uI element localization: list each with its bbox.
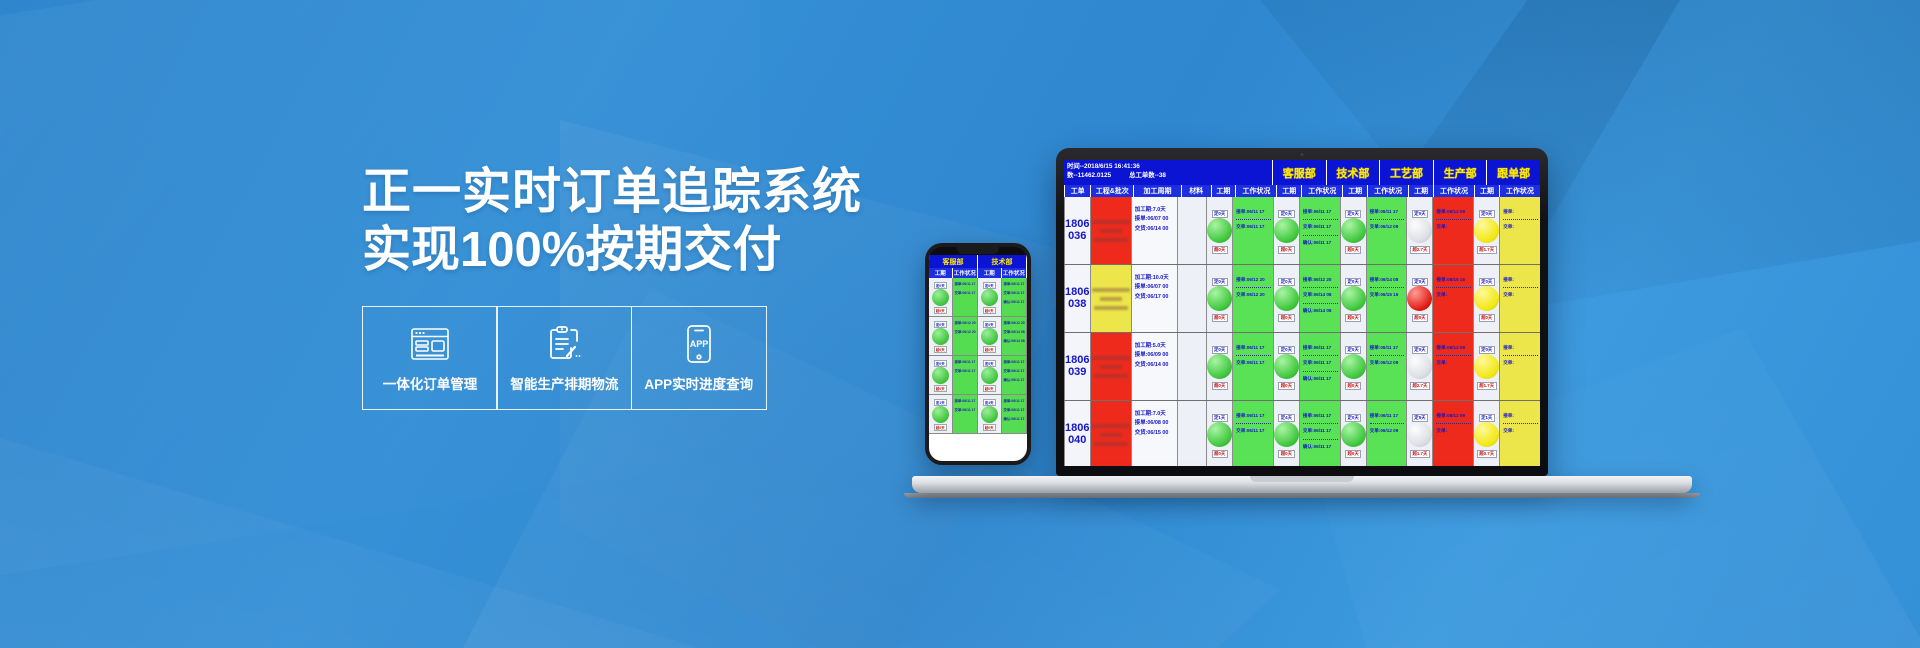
late-tag: 定0天 (1278, 346, 1294, 354)
late-tag: 定5天 (1412, 414, 1428, 422)
col-header-技术部-工期: 工期 (1276, 185, 1301, 197)
work-status-cell-跟单部: 接单:交单: (1499, 265, 1540, 332)
col-header-生产部-工作状况: 工作状况 (1433, 185, 1474, 197)
col-header-客服部-工期: 工期 (1211, 185, 1236, 197)
duration-cell-技术部: 定0天超0天 (1273, 197, 1299, 264)
work-status-cell-生产部: 接单:06/12 09交单: (1432, 401, 1473, 466)
phone-frame: 客服部 技术部 工期 工作状况 工期 工作状况 定0天超0天接单:06/11 1… (929, 247, 1027, 461)
phone-status-light (981, 328, 998, 345)
work-status-cell-生产部: 接单:06/15 16交单: (1432, 265, 1473, 332)
phone-work-status-cell: 接单:06/11 17交单:06/11 17确认:06/11 17 (1002, 356, 1027, 394)
work-status-cell-跟单部: 接单:交单: (1499, 333, 1540, 400)
dept-header-technical: 技术部 (1326, 160, 1380, 185)
phone-late-tag: 定0天 (983, 321, 996, 328)
late-tag: 定0天 (1345, 210, 1361, 218)
status-light-grey (1407, 354, 1432, 379)
status-light-grey (1407, 218, 1432, 243)
status-light-green (1341, 286, 1366, 311)
processing-cycle-cell: 加工期:7.0天接单:06/08 00交货:06/15 00 (1131, 401, 1178, 466)
duration-cell-生产部: 定0天超0天 (1406, 265, 1432, 332)
dept-header-process: 工艺部 (1379, 160, 1433, 185)
phone-overdue-tag: 超0天 (983, 424, 996, 431)
hero-banner: 正一实时订单追踪系统 实现100%按期交付 (0, 0, 1920, 648)
phone-duration-cell: 定0天超0天 (929, 356, 953, 394)
duration-cell-生产部: 定0天超2.7天 (1406, 197, 1432, 264)
total-orders-label: 总工单数--38 (1129, 171, 1166, 180)
status-light-green (1274, 218, 1299, 243)
project-batch-cell (1090, 197, 1131, 264)
duration-cell-客服部: 定0天超0天 (1206, 333, 1232, 400)
laptop-lid: 时间--2018/6/15 16:41:36 数--11462.0125 总工单… (1056, 148, 1548, 476)
status-light-green (1207, 422, 1232, 447)
work-status-cell-生产部: 接单:06/12 09交单: (1432, 333, 1473, 400)
status-light-green (1341, 218, 1366, 243)
order-number-cell: 1806036 (1064, 197, 1090, 264)
col-header-技术部-工作状况: 工作状况 (1301, 185, 1342, 197)
overdue-tag: 超0天 (1278, 382, 1294, 390)
processing-cycle-cell: 加工期:10.0天接单:06/07 00交货:06/17 00 (1131, 265, 1178, 332)
dashboard-row-list: 1806036加工期:7.0天接单:06/07 00交货:06/14 00定0天… (1064, 197, 1540, 466)
phone-duration-cell: 定1天超0天 (929, 395, 953, 433)
headline-line-1: 正一实时订单追踪系统 (362, 164, 882, 222)
feature-label: 智能生产排期物流 (510, 373, 618, 393)
phone-dept-1: 技术部 (978, 255, 1027, 268)
phone-status-light (932, 406, 949, 423)
duration-cell-技术部: 定4天超0天 (1273, 401, 1299, 466)
laptop-screen: 时间--2018/6/15 16:41:36 数--11462.0125 总工单… (1064, 160, 1540, 466)
project-batch-cell (1090, 401, 1131, 466)
late-tag: 定0天 (1412, 210, 1428, 218)
svg-text:APP: APP (690, 339, 709, 349)
col-header-1: 工程&批次 (1090, 185, 1133, 197)
work-status-cell-跟单部: 接单:交单: (1499, 401, 1540, 466)
mobile-app-icon: APP (684, 322, 714, 366)
duration-cell-客服部: 定1天超0天 (1206, 401, 1232, 466)
count-label: 数--11462.0125 (1067, 171, 1111, 180)
table-row[interactable]: 1806038加工期:10.0天接单:06/07 00交货:06/17 00定0… (1064, 265, 1540, 333)
phone-notch (957, 247, 999, 254)
phone-overdue-tag: 超0天 (983, 307, 996, 314)
overdue-tag: 超0天 (1212, 314, 1228, 322)
late-tag: 定0天 (1412, 278, 1428, 286)
status-light-green (1207, 218, 1232, 243)
webcam-icon (1301, 153, 1304, 156)
status-light-yellow (1474, 354, 1499, 379)
phone-duration-cell: 定0天超0天 (978, 356, 1002, 394)
overdue-tag: 超0天 (1212, 246, 1228, 254)
phone-col-3: 工作状况 (1002, 268, 1027, 278)
status-light-green (1274, 422, 1299, 447)
phone-status-light (981, 289, 998, 306)
work-status-cell-工艺部: 接单:06/11 17交单:06/12 09 (1366, 197, 1407, 264)
phone-status-light (932, 328, 949, 345)
late-tag: 定0天 (1479, 210, 1495, 218)
headline-line-2: 实现100%按期交付 (362, 222, 882, 280)
duration-cell-跟单部: 定0天超1.7天 (1473, 197, 1499, 264)
overdue-tag: 超0.7天 (1477, 450, 1497, 458)
overdue-tag: 超1.7天 (1477, 382, 1497, 390)
phone-row[interactable]: 定0天超0天接单:06/11 17交单:06/11 17定0天超0天接单:06/… (929, 278, 1027, 317)
overdue-tag: 超0天 (1278, 246, 1294, 254)
duration-cell-技术部: 定0天超0天 (1273, 265, 1299, 332)
col-header-跟单部-工期: 工期 (1474, 185, 1499, 197)
duration-cell-工艺部: 定0天超0天 (1340, 333, 1366, 400)
phone-mockup: 客服部 技术部 工期 工作状况 工期 工作状况 定0天超0天接单:06/11 1… (925, 243, 1031, 465)
clipboard-schedule-icon (547, 322, 581, 366)
work-status-cell-技术部: 接单:06/11 17交单:06/11 17确认:06/11 17 (1299, 333, 1340, 400)
material-cell (1177, 333, 1206, 400)
phone-row[interactable]: 定0天超0天接单:06/12 20交单:06/12 20定0天超0天接单:06/… (929, 317, 1027, 356)
dept-header-customer-service: 客服部 (1272, 160, 1326, 185)
late-tag: 定0天 (1412, 346, 1428, 354)
phone-duration-cell: 定0天超0天 (978, 317, 1002, 355)
duration-cell-客服部: 定0天超0天 (1206, 197, 1232, 264)
status-light-red (1407, 286, 1432, 311)
phone-overdue-tag: 超0天 (983, 346, 996, 353)
phone-col-0: 工期 (929, 268, 953, 278)
phone-overdue-tag: 超0天 (934, 346, 947, 353)
processing-cycle-cell: 加工期:7.0天接单:06/07 00交货:06/14 00 (1131, 197, 1178, 264)
work-status-cell-工艺部: 接单:06/11 17交单:06/12 09 (1366, 401, 1407, 466)
late-tag: 定0天 (1278, 210, 1294, 218)
work-status-cell-客服部: 接单:06/11 17交单:06/11 17 (1232, 197, 1273, 264)
work-status-cell-客服部: 接单:06/12 20交单:06/12 20 (1232, 265, 1273, 332)
phone-duration-cell: 定0天超0天 (978, 278, 1002, 316)
duration-cell-跟单部: 定0天超0天 (1473, 265, 1499, 332)
late-tag: 定4天 (1278, 414, 1294, 422)
dashboard-meta: 时间--2018/6/15 16:41:36 数--11462.0125 总工单… (1064, 160, 1272, 185)
status-light-green (1274, 286, 1299, 311)
phone-status-light (981, 367, 998, 384)
phone-overdue-tag: 超0天 (983, 385, 996, 392)
overdue-tag: 超0天 (1412, 314, 1428, 322)
order-tracking-dashboard: 时间--2018/6/15 16:41:36 数--11462.0125 总工单… (1064, 160, 1540, 466)
phone-column-header: 工期 工作状况 工期 工作状况 (929, 268, 1027, 278)
work-status-cell-技术部: 接单:06/11 17交单:06/11 17确认:06/11 17 (1299, 401, 1340, 466)
phone-late-tag: 定0天 (983, 360, 996, 367)
overdue-tag: 超1.7天 (1410, 450, 1430, 458)
hero-copy: 正一实时订单追踪系统 实现100%按期交付 (362, 164, 882, 410)
status-light-yellow (1474, 286, 1499, 311)
dept-header-tracking: 跟单部 (1486, 160, 1540, 185)
order-number-cell: 1806038 (1064, 265, 1090, 332)
duration-cell-跟单部: 定0天超1.7天 (1473, 333, 1499, 400)
duration-cell-跟单部: 定1天超0.7天 (1473, 401, 1499, 466)
phone-late-tag: 定4天 (983, 399, 996, 406)
late-tag: 定0天 (1479, 278, 1495, 286)
phone-row[interactable]: 定1天超0天接单:06/11 17交单:06/11 17定4天超0天接单:06/… (929, 395, 1027, 434)
col-header-2: 加工周期 (1133, 185, 1181, 197)
phone-work-status-cell: 接单:06/12 20交单:06/12 20 (953, 317, 978, 355)
phone-overdue-tag: 超0天 (934, 424, 947, 431)
col-header-工艺部-工作状况: 工作状况 (1367, 185, 1408, 197)
col-header-3: 材料 (1181, 185, 1211, 197)
phone-status-light (932, 289, 949, 306)
phone-duration-cell: 定4天超0天 (978, 395, 1002, 433)
status-light-green (1274, 354, 1299, 379)
overdue-tag: 超0天 (1212, 450, 1228, 458)
phone-work-status-cell: 接单:06/11 17交单:06/11 17确认:06/11 17 (1002, 278, 1027, 316)
phone-late-tag: 定1天 (934, 399, 947, 406)
processing-cycle-cell: 加工期:5.0天接单:06/09 00交货:06/14 00 (1131, 333, 1178, 400)
phone-row[interactable]: 定0天超0天接单:06/11 17交单:06/11 17定0天超0天接单:06/… (929, 356, 1027, 395)
overdue-tag: 超0天 (1345, 450, 1361, 458)
table-row[interactable]: 1806036加工期:7.0天接单:06/07 00交货:06/14 00定0天… (1064, 197, 1540, 265)
phone-col-1: 工作状况 (953, 268, 978, 278)
feature-card-smart-scheduling[interactable]: 智能生产排期物流 (496, 306, 632, 410)
late-tag: 定0天 (1278, 278, 1294, 286)
overdue-tag: 超0天 (1212, 382, 1228, 390)
work-status-cell-技术部: 接单:06/11 17交单:06/11 17确认:06/11 17 (1299, 197, 1340, 264)
phone-work-status-cell: 接单:06/11 17交单:06/11 17确认:06/11 17 (1002, 395, 1027, 433)
work-status-cell-工艺部: 接单:06/14 08交单:06/15 16 (1366, 265, 1407, 332)
phone-late-tag: 定0天 (934, 321, 947, 328)
laptop-base (912, 476, 1692, 493)
col-header-工艺部-工期: 工期 (1342, 185, 1367, 197)
status-light-green (1341, 422, 1366, 447)
dashboard-header: 时间--2018/6/15 16:41:36 数--11462.0125 总工单… (1064, 160, 1540, 185)
phone-status-light (932, 367, 949, 384)
timestamp-label: 时间--2018/6/15 16:41:36 (1067, 162, 1272, 171)
laptop-foot (904, 493, 1700, 498)
duration-cell-工艺部: 定0天超0天 (1340, 197, 1366, 264)
phone-work-status-cell: 接单:06/12 20交单:06/14 08确认:06/14 08 (1002, 317, 1027, 355)
late-tag: 定0天 (1479, 346, 1495, 354)
status-light-green (1207, 286, 1232, 311)
col-header-生产部-工期: 工期 (1408, 185, 1433, 197)
work-status-cell-工艺部: 接单:06/11 17交单:06/12 09 (1366, 333, 1407, 400)
order-number-cell: 1806039 (1064, 333, 1090, 400)
phone-row-list: 定0天超0天接单:06/11 17交单:06/11 17定0天超0天接单:06/… (929, 278, 1027, 434)
phone-dept-0: 客服部 (929, 255, 978, 268)
feature-label: APP实时进度查询 (644, 373, 753, 393)
col-header-跟单部-工作状况: 工作状况 (1499, 185, 1540, 197)
laptop-mockup: 时间--2018/6/15 16:41:36 数--11462.0125 总工单… (1056, 148, 1548, 476)
table-row[interactable]: 1806040加工期:7.0天接单:06/08 00交货:06/15 00定1天… (1064, 401, 1540, 466)
work-status-cell-生产部: 接单:06/12 09交单: (1432, 197, 1473, 264)
project-batch-cell (1090, 333, 1131, 400)
work-status-cell-客服部: 接单:06/11 17交单:06/11 17 (1232, 401, 1273, 466)
work-status-cell-跟单部: 接单:交单: (1499, 197, 1540, 264)
phone-overdue-tag: 超0天 (934, 385, 947, 392)
phone-work-status-cell: 接单:06/11 17交单:06/11 17 (953, 395, 978, 433)
phone-late-tag: 定0天 (934, 360, 947, 367)
overdue-tag: 超2.7天 (1410, 246, 1430, 254)
phone-status-light (981, 406, 998, 423)
late-tag: 定0天 (1212, 346, 1228, 354)
overdue-tag: 超0天 (1479, 314, 1495, 322)
feature-card-order-management[interactable]: 一体化订单管理 (362, 306, 498, 410)
late-tag: 定1天 (1479, 414, 1495, 422)
material-cell (1177, 197, 1206, 264)
col-header-0: 工单 (1064, 185, 1090, 197)
late-tag: 定0天 (1345, 278, 1361, 286)
phone-work-status-cell: 接单:06/11 17交单:06/11 17 (953, 278, 978, 316)
project-batch-cell (1090, 265, 1131, 332)
window-dashboard-icon (410, 322, 450, 366)
order-number-cell: 1806040 (1064, 401, 1090, 466)
col-header-客服部-工作状况: 工作状况 (1235, 185, 1276, 197)
overdue-tag: 超0天 (1278, 450, 1294, 458)
phone-department-header: 客服部 技术部 (929, 255, 1027, 268)
phone-duration-cell: 定0天超0天 (929, 278, 953, 316)
overdue-tag: 超0天 (1345, 382, 1361, 390)
duration-cell-工艺部: 定0天超0天 (1340, 401, 1366, 466)
status-light-green (1207, 354, 1232, 379)
overdue-tag: 超2.7天 (1410, 382, 1430, 390)
status-light-green (1341, 354, 1366, 379)
material-cell (1177, 265, 1206, 332)
phone-overdue-tag: 超0天 (934, 307, 947, 314)
feature-list: 一体化订单管理 (362, 306, 882, 410)
material-cell (1177, 401, 1206, 466)
status-light-yellow (1474, 218, 1499, 243)
duration-cell-工艺部: 定0天超0天 (1340, 265, 1366, 332)
status-light-yellow (1474, 422, 1499, 447)
phone-work-status-cell: 接单:06/11 17交单:06/11 17 (953, 356, 978, 394)
status-light-grey (1407, 422, 1432, 447)
phone-duration-cell: 定0天超0天 (929, 317, 953, 355)
feature-label: 一体化订单管理 (383, 373, 478, 393)
duration-cell-技术部: 定0天超0天 (1273, 333, 1299, 400)
overdue-tag: 超0天 (1345, 314, 1361, 322)
late-tag: 定0天 (1212, 278, 1228, 286)
feature-card-app-tracking[interactable]: APP APP实时进度查询 (631, 306, 767, 410)
page-title: 正一实时订单追踪系统 实现100%按期交付 (362, 164, 882, 280)
duration-cell-客服部: 定0天超0天 (1206, 265, 1232, 332)
phone-late-tag: 定0天 (983, 282, 996, 289)
table-row[interactable]: 1806039加工期:5.0天接单:06/09 00交货:06/14 00定0天… (1064, 333, 1540, 401)
work-status-cell-技术部: 接单:06/12 20交单:06/14 08确认:06/14 08 (1299, 265, 1340, 332)
overdue-tag: 超1.7天 (1477, 246, 1497, 254)
duration-cell-生产部: 定0天超2.7天 (1406, 333, 1432, 400)
late-tag: 定0天 (1345, 346, 1361, 354)
duration-cell-生产部: 定5天超1.7天 (1406, 401, 1432, 466)
phone-late-tag: 定0天 (934, 282, 947, 289)
overdue-tag: 超0天 (1345, 246, 1361, 254)
overdue-tag: 超0天 (1278, 314, 1294, 322)
late-tag: 定0天 (1212, 210, 1228, 218)
dashboard-column-header: 工单工程&批次加工周期材料工期工作状况工期工作状况工期工作状况工期工作状况工期工… (1064, 185, 1540, 197)
phone-col-2: 工期 (978, 268, 1002, 278)
work-status-cell-客服部: 接单:06/11 17交单:06/11 17 (1232, 333, 1273, 400)
phone-screen: 客服部 技术部 工期 工作状况 工期 工作状况 定0天超0天接单:06/11 1… (929, 255, 1027, 461)
late-tag: 定1天 (1212, 414, 1228, 422)
late-tag: 定0天 (1345, 414, 1361, 422)
dept-header-production: 生产部 (1433, 160, 1487, 185)
